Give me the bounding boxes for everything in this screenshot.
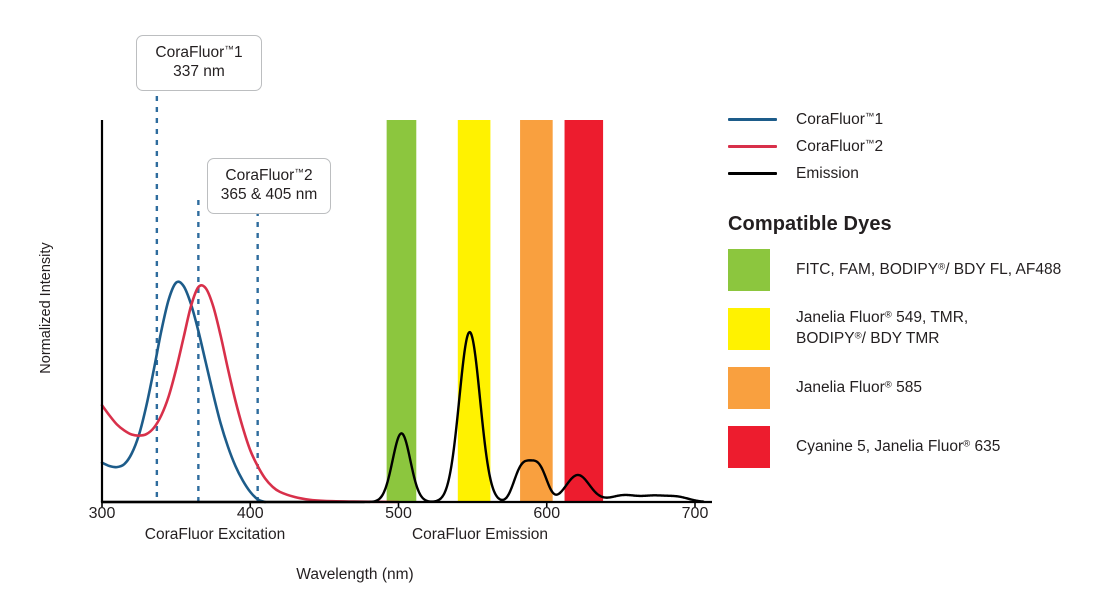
- callout-corafluor-2: CoraFluor™2 365 & 405 nm: [207, 158, 331, 214]
- orange-band: [520, 120, 553, 502]
- callout-cf1-title: CoraFluor™1: [149, 43, 249, 62]
- compatible-dyes-list: FITC, FAM, BODIPY®/ BDY FL, AF488Janelia…: [728, 249, 1103, 468]
- trademark-mark: ™: [865, 111, 875, 122]
- x-axis-sublabel-excitation: CoraFluor Excitation: [140, 526, 290, 544]
- curve-excitation-d8304a: [102, 285, 399, 502]
- compatible-dyes-heading: Compatible Dyes: [728, 213, 1103, 236]
- legend-series-label: Emission: [796, 165, 859, 183]
- x-tick-label-600: 600: [517, 505, 577, 523]
- legend-series-label: CoraFluor™1: [796, 111, 883, 129]
- y-axis-label: Normalized Intensity: [38, 218, 54, 398]
- curve-excitation-1d5c8a: [102, 282, 265, 502]
- x-tick-label-700: 700: [665, 505, 725, 523]
- dye-row: Janelia Fluor® 549, TMR,BODIPY®/ BDY TMR: [728, 308, 1103, 350]
- legend-series-row: Emission: [728, 160, 1103, 187]
- trademark-mark: ™: [865, 138, 875, 149]
- registered-mark: ®: [855, 331, 862, 342]
- callout-cf2-title: CoraFluor™2: [220, 166, 318, 185]
- legend-panel: CoraFluor™1CoraFluor™2Emission Compatibl…: [728, 106, 1103, 485]
- red-band: [565, 120, 604, 502]
- dye-label: Janelia Fluor® 585: [796, 378, 922, 399]
- legend-series-row: CoraFluor™2: [728, 133, 1103, 160]
- x-tick-label-400: 400: [220, 505, 280, 523]
- dye-label-line: Janelia Fluor® 585: [796, 378, 922, 399]
- dye-label-line: Janelia Fluor® 549, TMR,: [796, 308, 968, 329]
- registered-mark: ®: [885, 310, 892, 321]
- x-tick-label-300: 300: [72, 505, 132, 523]
- legend-line-swatch: [728, 145, 777, 148]
- registered-mark: ®: [938, 261, 945, 272]
- wavelength-bands: [387, 120, 603, 502]
- registered-mark: ®: [885, 379, 892, 390]
- dye-label: FITC, FAM, BODIPY®/ BDY FL, AF488: [796, 260, 1061, 281]
- legend-line-swatch: [728, 172, 777, 175]
- callout-cf2-value: 365 & 405 nm: [220, 185, 318, 204]
- legend-line-swatch: [728, 118, 777, 121]
- dye-color-swatch: [728, 426, 770, 468]
- x-tick-label-500: 500: [369, 505, 429, 523]
- green-band: [387, 120, 417, 502]
- dye-label-line: Cyanine 5, Janelia Fluor® 635: [796, 437, 1000, 458]
- excitation-marker-lines: [157, 96, 258, 502]
- callout-cf1-value: 337 nm: [149, 62, 249, 81]
- legend-series-row: CoraFluor™1: [728, 106, 1103, 133]
- dye-row: FITC, FAM, BODIPY®/ BDY FL, AF488: [728, 249, 1103, 291]
- dye-row: Janelia Fluor® 585: [728, 367, 1103, 409]
- registered-mark: ®: [963, 438, 970, 449]
- series-legend: CoraFluor™1CoraFluor™2Emission: [728, 106, 1103, 187]
- dye-color-swatch: [728, 367, 770, 409]
- x-axis-sublabel-emission: CoraFluor Emission: [405, 526, 555, 544]
- dye-color-swatch: [728, 308, 770, 350]
- dye-label: Cyanine 5, Janelia Fluor® 635: [796, 437, 1000, 458]
- dye-label-line: BODIPY®/ BDY TMR: [796, 329, 968, 350]
- legend-series-label: CoraFluor™2: [796, 138, 883, 156]
- dye-color-swatch: [728, 249, 770, 291]
- dye-label-line: FITC, FAM, BODIPY®/ BDY FL, AF488: [796, 260, 1061, 281]
- dye-label: Janelia Fluor® 549, TMR,BODIPY®/ BDY TMR: [796, 308, 968, 350]
- spectra-chart: CoraFluor™1 337 nm CoraFluor™2 365 & 405…: [0, 0, 720, 612]
- dye-row: Cyanine 5, Janelia Fluor® 635: [728, 426, 1103, 468]
- x-axis-label: Wavelength (nm): [255, 566, 455, 584]
- callout-corafluor-1: CoraFluor™1 337 nm: [136, 35, 262, 91]
